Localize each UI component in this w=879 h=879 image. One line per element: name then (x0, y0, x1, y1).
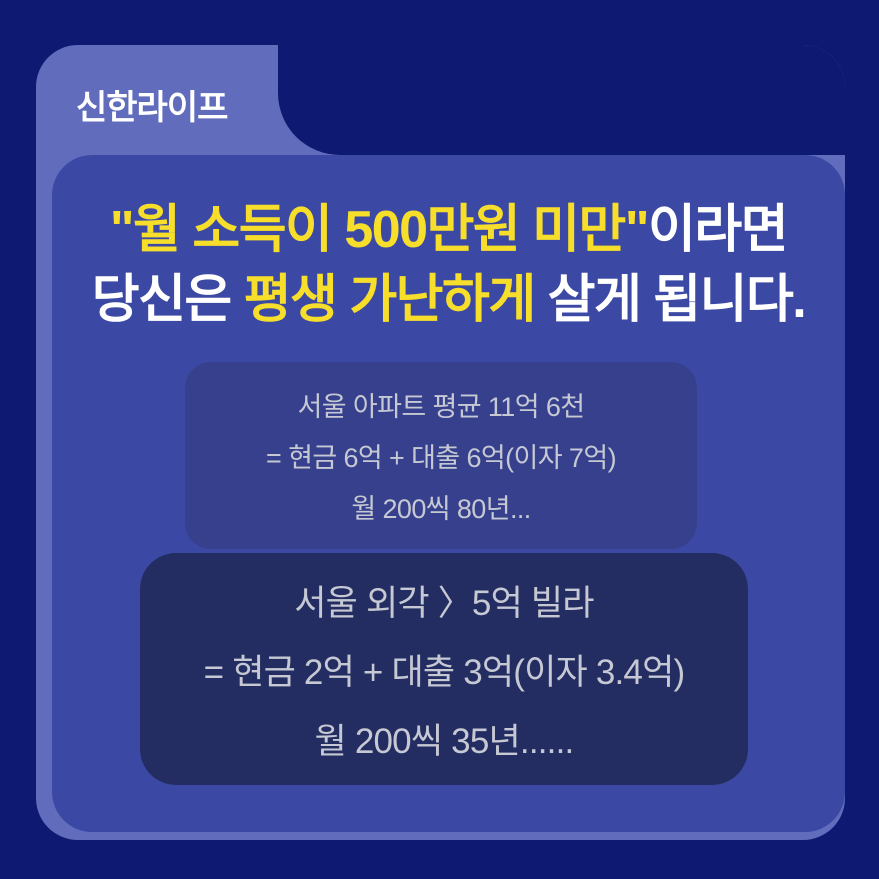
seoul-outskirts-villa-card: 서울 외각 〉5억 빌라 = 현금 2억 + 대출 3억(이자 3.4억) 월 … (140, 553, 748, 785)
headline-highlight: 평생 가난하게 (244, 271, 535, 329)
card2-line-2: = 현금 2억 + 대출 3억(이자 3.4억) (204, 644, 685, 695)
card1-line-2: = 현금 6억 + 대출 6억(이자 7억) (266, 436, 616, 475)
headline-line-2: 당신은 평생 가난하게 살게 됩니다. (52, 266, 845, 336)
card1-line-1: 서울 아파트 평균 11억 6천 (297, 385, 584, 424)
card1-line-3: 월 200씩 80년... (351, 487, 530, 526)
headline-line-1: "월 소득이 500만원 미만"이라면 (52, 196, 845, 266)
headline-line1-tail: 이라면 (648, 201, 787, 259)
brand-logo: 신한라이프 (76, 80, 227, 129)
headline-line2-tail: 살게 됩니다. (535, 271, 806, 329)
promo-card-canvas: 신한라이프 "월 소득이 500만원 미만"이라면 당신은 평생 가난하게 살게… (0, 0, 879, 879)
headline-quote: "월 소득이 500만원 미만" (110, 201, 648, 259)
folder-tab-notch (340, 45, 845, 155)
headline: "월 소득이 500만원 미만"이라면 당신은 평생 가난하게 살게 됩니다. (52, 196, 845, 335)
seoul-apartment-card: 서울 아파트 평균 11억 6천 = 현금 6억 + 대출 6억(이자 7억) … (185, 362, 697, 549)
card2-line-3: 월 200씩 35년...... (315, 713, 574, 764)
headline-line2-head: 당신은 (92, 271, 244, 329)
card2-line-1: 서울 외각 〉5억 빌라 (294, 575, 593, 626)
